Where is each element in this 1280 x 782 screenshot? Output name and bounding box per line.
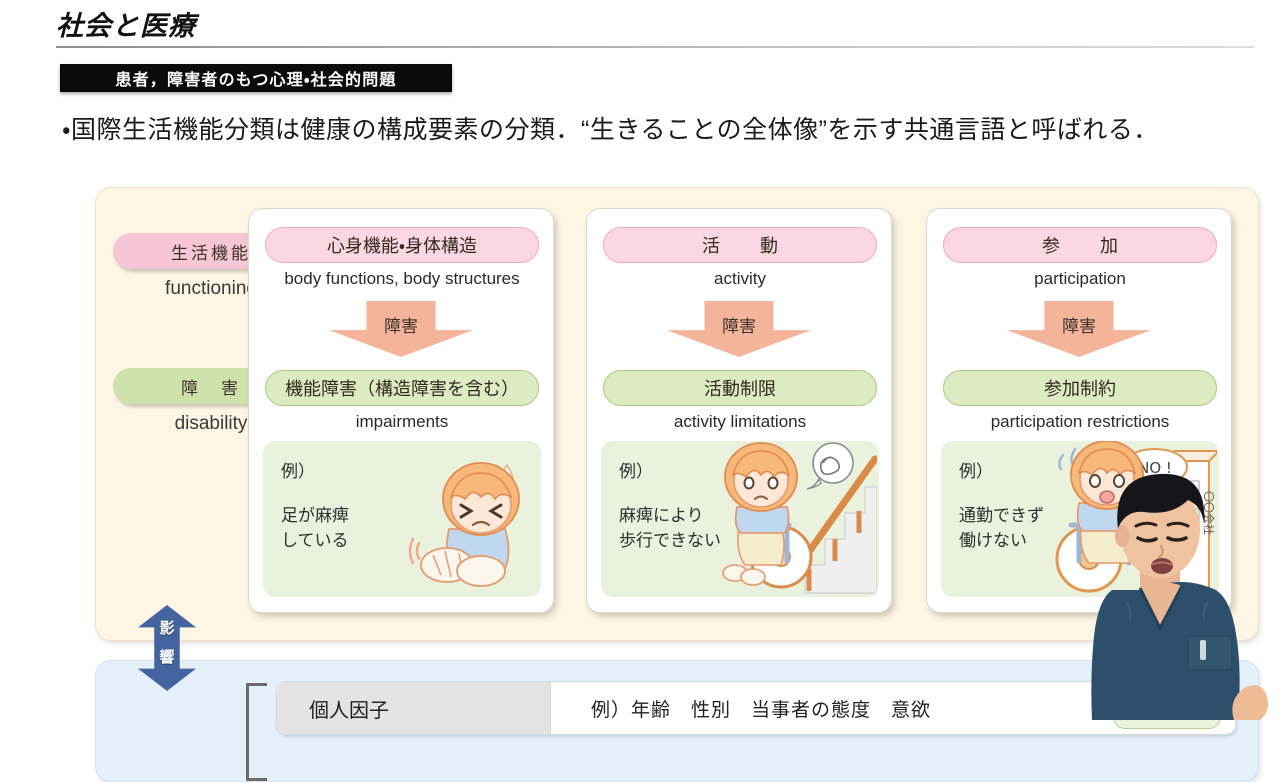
column-1-top-pill: 心身機能・身体構造: [265, 227, 539, 263]
column-2-bottom-label-ja: 活動制限: [704, 375, 776, 401]
column-3-example-box: 例） 通勤できず 働けない 〇〇会社 NO !: [941, 441, 1219, 597]
column-2-example-text: 麻痺により 歩行できない: [619, 503, 721, 553]
icf-functioning-panel: 生活機能 functioning 障 害 disability 心身機能・身体構…: [95, 187, 1259, 641]
title-divider: [56, 46, 1254, 48]
column-3-disability-arrow-icon: 障害: [1007, 301, 1151, 357]
child-wheelchair-stairs-icon: [709, 441, 877, 597]
row-label-functioning-ja: 生活機能: [171, 239, 251, 264]
column-1-disability-arrow-icon: 障害: [329, 301, 473, 357]
column-1-example-box: 例） 足が麻痺 している: [263, 441, 541, 597]
section-banner: 患者，障害者のもつ心理・社会的問題: [60, 64, 452, 92]
column-3-top-label-ja: 参 加: [1031, 232, 1129, 258]
column-3-example-lead: 例）: [959, 457, 993, 482]
column-2-example-box: 例） 麻痺により 歩行できない: [601, 441, 879, 597]
column-2-top-label-ja: 活 動: [691, 232, 789, 258]
column-3-bottom-label-ja: 参加制約: [1044, 375, 1116, 401]
child-sitting-paralyzed-legs-icon: [389, 447, 539, 597]
row-label-disability-ja: 障 害: [181, 374, 241, 399]
personal-factors-example: 例）年齢 性別 当事者の態度 意欲: [551, 695, 1113, 722]
influence-double-arrow-icon: 影 響: [138, 605, 196, 691]
lead-paragraph: ・国際生活機能分類は健康の構成要素の分類．“生きることの全体像”を示す共通言語と…: [62, 110, 1262, 146]
column-3-bottom-pill: 参加制約: [943, 370, 1217, 406]
column-3-example-text: 通勤できず 働けない: [959, 503, 1044, 553]
contextual-factors-bracket: [246, 683, 267, 781]
personal-factors-chip: 60歳男性: [1113, 688, 1221, 729]
column-1-example-lead: 例）: [281, 457, 315, 482]
column-3-bottom-label-en: participation restrictions: [933, 412, 1227, 432]
icf-column-participation: 参 加 participation 障害 参加制約 participation …: [926, 208, 1232, 613]
page-title: 社会と医療: [56, 4, 196, 43]
column-3-arrow-label: 障害: [1007, 312, 1151, 337]
column-2-bottom-label-en: activity limitations: [593, 412, 887, 432]
column-1-example-text: 足が麻痺 している: [281, 503, 349, 553]
column-2-example-lead: 例）: [619, 457, 653, 482]
column-1-bottom-label-en: impairments: [255, 412, 549, 432]
column-2-bottom-pill: 活動制限: [603, 370, 877, 406]
influence-label: 影 響: [138, 614, 196, 672]
influence-char-2: 響: [159, 649, 174, 666]
column-2-arrow-label: 障害: [667, 312, 811, 337]
column-2-top-label-en: activity: [593, 269, 887, 289]
column-1-bottom-label-ja: 機能障害（構造障害を含む）: [285, 375, 519, 401]
personal-factors-label: 個人因子: [277, 682, 551, 734]
contextual-factors-panel: 個人因子 例）年齢 性別 当事者の態度 意欲 60歳男性: [95, 660, 1259, 782]
column-3-top-pill: 参 加: [943, 227, 1217, 263]
column-1-top-label-ja: 心身機能・身体構造: [327, 232, 477, 258]
personal-factors-row: 個人因子 例）年齢 性別 当事者の態度 意欲 60歳男性: [276, 681, 1236, 735]
icf-column-activity: 活 動 activity 障害 活動制限 activity limitation…: [586, 208, 892, 613]
column-2-top-pill: 活 動: [603, 227, 877, 263]
column-1-top-label-en: body functions, body structures: [255, 269, 549, 289]
icf-column-body-functions: 心身機能・身体構造 body functions, body structure…: [248, 208, 554, 613]
column-2-disability-arrow-icon: 障害: [667, 301, 811, 357]
influence-char-1: 影: [159, 620, 174, 637]
column-1-bottom-pill: 機能障害（構造障害を含む）: [265, 370, 539, 406]
column-1-arrow-label: 障害: [329, 312, 473, 337]
column-3-top-label-en: participation: [933, 269, 1227, 289]
svg-text:〇〇会社: 〇〇会社: [1202, 491, 1216, 535]
child-wheelchair-office-icon: 〇〇会社 NO !: [1045, 441, 1217, 597]
section-banner-label: 患者，障害者のもつ心理・社会的問題: [115, 66, 396, 90]
